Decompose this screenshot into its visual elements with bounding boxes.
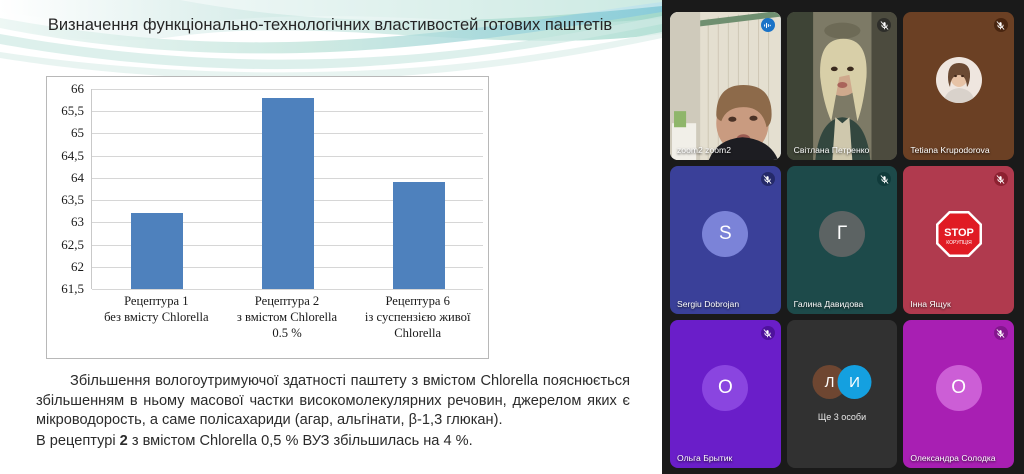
avatar <box>936 57 982 103</box>
svg-text:КОРУПЦІЯ: КОРУПЦІЯ <box>946 240 972 246</box>
participant-tile[interactable]: ЛИЩе 3 особи <box>787 320 898 468</box>
avatar-initial: О <box>936 365 982 411</box>
webcam-feed <box>787 12 898 160</box>
x-tick-label-2: Рецептура 6 із суспензією живої Chlorell… <box>352 293 483 341</box>
participant-name: Олександра Солодка <box>910 453 995 463</box>
y-tick-label: 65 <box>71 125 84 141</box>
slide-body-text: Збільшення вологоутримуючої здатності па… <box>36 372 630 451</box>
chart-gridline <box>92 89 483 90</box>
p2-pre: В рецептурі <box>36 433 120 449</box>
y-tick-label: 63 <box>71 214 84 230</box>
overflow-count-label: Ще 3 особи <box>787 412 898 422</box>
participant-tile[interactable]: SSergiu Dobrojan <box>670 166 781 314</box>
participant-name: Інна Ящук <box>910 299 950 309</box>
participant-tile[interactable]: ООлександра Солодка <box>903 320 1014 468</box>
meeting-screenshare-view: Визначення функціонально-технологічних в… <box>0 0 1024 474</box>
slide-paragraph-1: Збільшення вологоутримуючої здатності па… <box>36 372 630 431</box>
svg-text:STOP: STOP <box>944 227 974 239</box>
x-tick-line: 0.5 % <box>222 325 353 341</box>
participant-tile[interactable]: STOPКОРУПЦІЯІнна Ящук <box>903 166 1014 314</box>
chart-y-axis: 66 65,5 65 64,5 64 63,5 63 62,5 62 61,5 <box>47 89 87 289</box>
participant-name: Галина Давидова <box>794 299 864 309</box>
avatar-initial: О <box>702 365 748 411</box>
chart-plot-area <box>91 89 483 289</box>
participant-tile[interactable]: zoom2 zoom2 <box>670 12 781 160</box>
p2-bold: 2 <box>120 433 128 449</box>
x-tick-line: Рецептура 6 <box>352 293 483 309</box>
x-tick-label-1: Рецептура 2 з вмістом Chlorella 0.5 % <box>222 293 353 341</box>
mic-muted-icon[interactable] <box>994 172 1008 186</box>
x-tick-line: без вмісту Chlorella <box>91 309 222 325</box>
participant-name: Sergiu Dobrojan <box>677 299 739 309</box>
participant-tile[interactable]: Tetiana Krupodorova <box>903 12 1014 160</box>
p2-post: з вмістом Chlorella 0,5 % ВУЗ збільшилас… <box>128 433 473 449</box>
participant-grid: zoom2 zoom2Світлана ПетренкоTetiana Krup… <box>670 12 1014 468</box>
x-tick-line: Рецептура 2 <box>222 293 353 309</box>
slide-decorative-wave <box>0 0 662 80</box>
chart-bar <box>393 182 445 289</box>
participant-tile[interactable]: ГГалина Давидова <box>787 166 898 314</box>
chart-bar <box>262 98 314 289</box>
webcam-feed <box>670 12 781 160</box>
participant-name: zoom2 zoom2 <box>677 145 731 155</box>
avatar-initial: S <box>702 211 748 257</box>
y-tick-label: 65,5 <box>61 103 84 119</box>
bar-chart-figure: 66 65,5 65 64,5 64 63,5 63 62,5 62 61,5 … <box>46 76 489 359</box>
presentation-slide: Визначення функціонально-технологічних в… <box>0 0 662 474</box>
y-tick-label: 64,5 <box>61 148 84 164</box>
participant-name: Ольга Брытик <box>677 453 732 463</box>
avatar-initial: И <box>837 365 871 399</box>
x-tick-line: з вмістом Chlorella <box>222 309 353 325</box>
mic-muted-icon[interactable] <box>994 18 1008 32</box>
participant-video-panel: zoom2 zoom2Світлана ПетренкоTetiana Krup… <box>662 0 1024 474</box>
mic-muted-icon[interactable] <box>761 326 775 340</box>
mic-muted-icon[interactable] <box>877 172 891 186</box>
audio-level-icon[interactable] <box>761 18 775 32</box>
y-tick-label: 61,5 <box>61 281 84 297</box>
chart-gridline <box>92 289 483 290</box>
y-tick-label: 62,5 <box>61 237 84 253</box>
avatar-initial: Г <box>819 211 865 257</box>
chart-x-axis: Рецептура 1 без вмісту Chlorella Рецепту… <box>91 293 483 341</box>
x-tick-label-0: Рецептура 1 без вмісту Chlorella <box>91 293 222 341</box>
slide-paragraph-2: В рецептурі 2 з вмістом Chlorella 0,5 % … <box>36 432 630 452</box>
y-tick-label: 64 <box>71 170 84 186</box>
mic-muted-icon[interactable] <box>994 326 1008 340</box>
participant-tile[interactable]: ООльга Брытик <box>670 320 781 468</box>
overflow-avatars: ЛИ <box>812 365 871 399</box>
y-tick-label: 62 <box>71 259 84 275</box>
slide-title: Визначення функціонально-технологічних в… <box>30 14 630 36</box>
x-tick-line: Chlorella <box>352 325 483 341</box>
y-tick-label: 63,5 <box>61 192 84 208</box>
stop-sign-avatar: STOPКОРУПЦІЯ <box>934 209 984 259</box>
x-tick-line: із суспензією живої <box>352 309 483 325</box>
participant-tile[interactable]: Світлана Петренко <box>787 12 898 160</box>
y-tick-label: 66 <box>71 81 84 97</box>
mic-muted-icon[interactable] <box>761 172 775 186</box>
x-tick-line: Рецептура 1 <box>91 293 222 309</box>
participant-name: Світлана Петренко <box>794 145 870 155</box>
participant-name: Tetiana Krupodorova <box>910 145 989 155</box>
chart-bar <box>131 213 183 289</box>
